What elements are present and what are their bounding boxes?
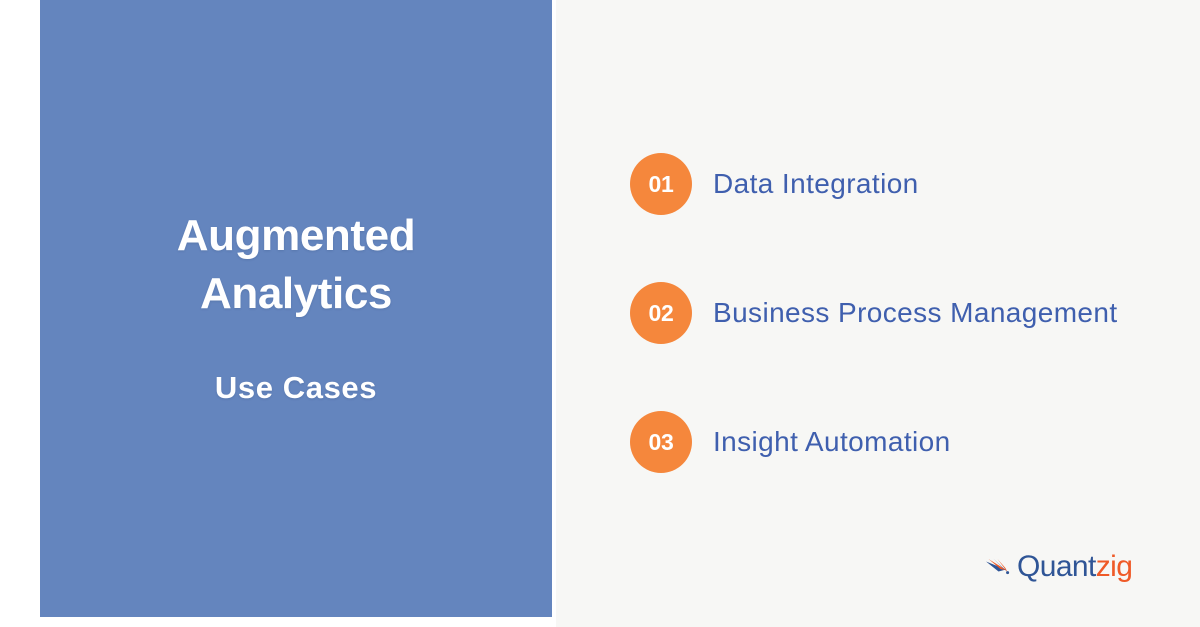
use-case-label-03: Insight Automation [713, 426, 951, 458]
logo-text: Quantzig [1017, 552, 1132, 582]
logo-text-quant: Quant [1017, 550, 1096, 583]
page-title-line-2: Analytics [40, 265, 552, 323]
list-item[interactable]: 03 Insight Automation [630, 411, 1190, 473]
logo-text-zig: zig [1096, 550, 1133, 583]
list-item[interactable]: 02 Business Process Management [630, 282, 1190, 344]
use-case-label-02: Business Process Management [713, 297, 1118, 329]
quantzig-fan-icon [985, 552, 1015, 582]
quantzig-logo[interactable]: Quantzig [985, 552, 1132, 582]
title-block: Augmented Analytics [40, 207, 552, 323]
number-badge-01: 01 [630, 153, 692, 215]
page-subtitle: Use Cases [40, 370, 552, 406]
number-badge-03: 03 [630, 411, 692, 473]
right-content-panel: 01 Data Integration 02 Business Process … [556, 0, 1200, 627]
number-badge-02: 02 [630, 282, 692, 344]
page-title-line-1: Augmented [40, 207, 552, 265]
left-title-panel: Augmented Analytics Use Cases [40, 0, 552, 617]
use-case-label-01: Data Integration [713, 168, 919, 200]
use-case-list: 01 Data Integration 02 Business Process … [630, 153, 1190, 473]
slide-canvas: Augmented Analytics Use Cases 01 Data In… [0, 0, 1200, 627]
list-item[interactable]: 01 Data Integration [630, 153, 1190, 215]
